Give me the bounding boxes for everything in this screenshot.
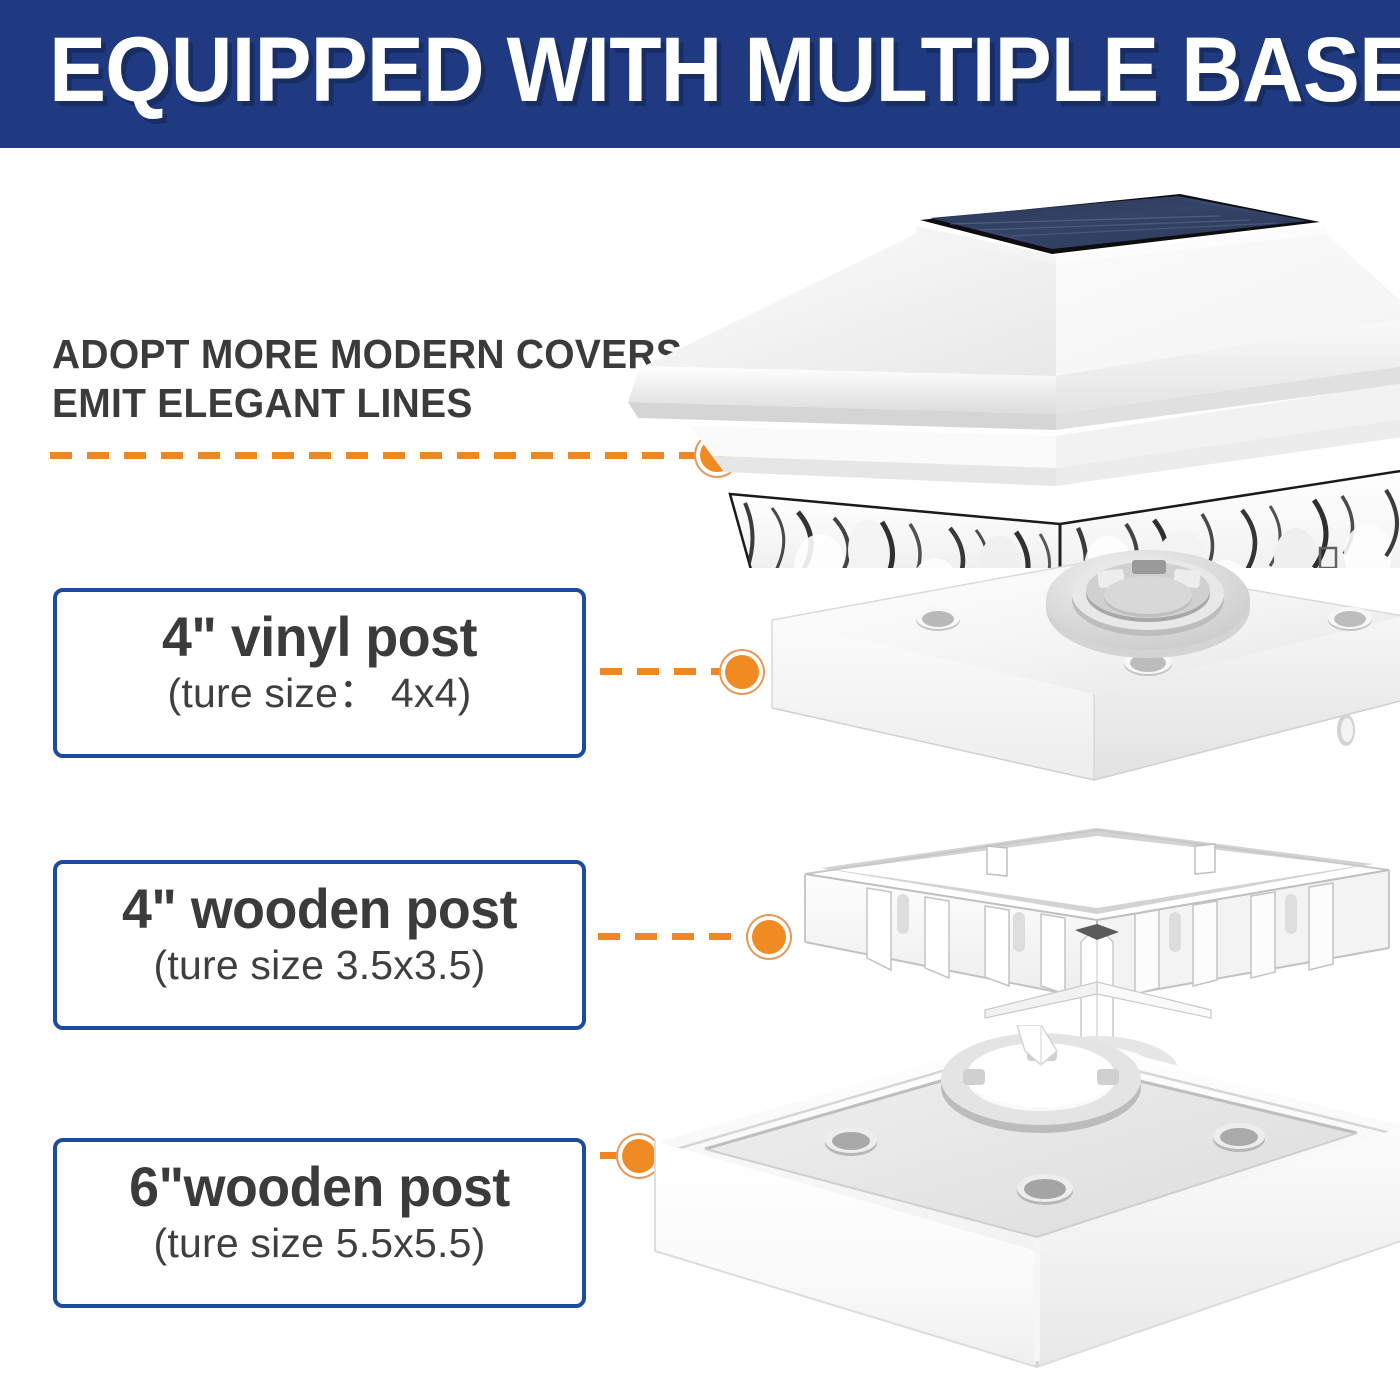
callout-subtitle-wood4: (ture size 3.5x3.5) xyxy=(57,940,582,990)
banner-title: EQUIPPED WITH MULTIPLE BASES xyxy=(49,20,1351,120)
headline-text: ADOPT MORE MODERN COVERS EMIT ELEGANT LI… xyxy=(52,330,679,428)
connector-vinyl-dot xyxy=(725,655,759,689)
product-part-vinyl-base xyxy=(758,548,1400,848)
callout-box-wooden-post-4[interactable]: 4" wooden post (ture size 3.5x3.5) xyxy=(53,860,586,1030)
callout-box-vinyl-post[interactable]: 4" vinyl post (ture size： 4x4) xyxy=(53,588,586,758)
headline-line-1: ADOPT MORE MODERN COVERS xyxy=(52,330,679,379)
header-banner: EQUIPPED WITH MULTIPLE BASES xyxy=(0,0,1400,148)
callout-box-wooden-post-6[interactable]: 6"wooden post (ture size 5.5x5.5) xyxy=(53,1138,586,1308)
product-part-wooden6-base xyxy=(645,1025,1400,1400)
headline-line-2: EMIT ELEGANT LINES xyxy=(52,379,679,428)
product-part-solar-cap xyxy=(620,168,1400,568)
callout-title-wood6: 6"wooden post xyxy=(68,1156,572,1218)
callout-subtitle-wood6: (ture size 5.5x5.5) xyxy=(57,1218,582,1268)
connector-wood6-line xyxy=(600,1152,620,1159)
callout-title-vinyl: 4" vinyl post xyxy=(68,606,572,668)
connector-wood4-line xyxy=(598,933,750,940)
infographic-page: EQUIPPED WITH MULTIPLE BASES ADOPT MORE … xyxy=(0,0,1400,1400)
callout-title-wood4: 4" wooden post xyxy=(68,878,572,940)
connector-headline-line xyxy=(50,452,702,459)
callout-subtitle-vinyl: (ture size： 4x4) xyxy=(57,668,582,718)
connector-vinyl-line xyxy=(600,668,722,675)
